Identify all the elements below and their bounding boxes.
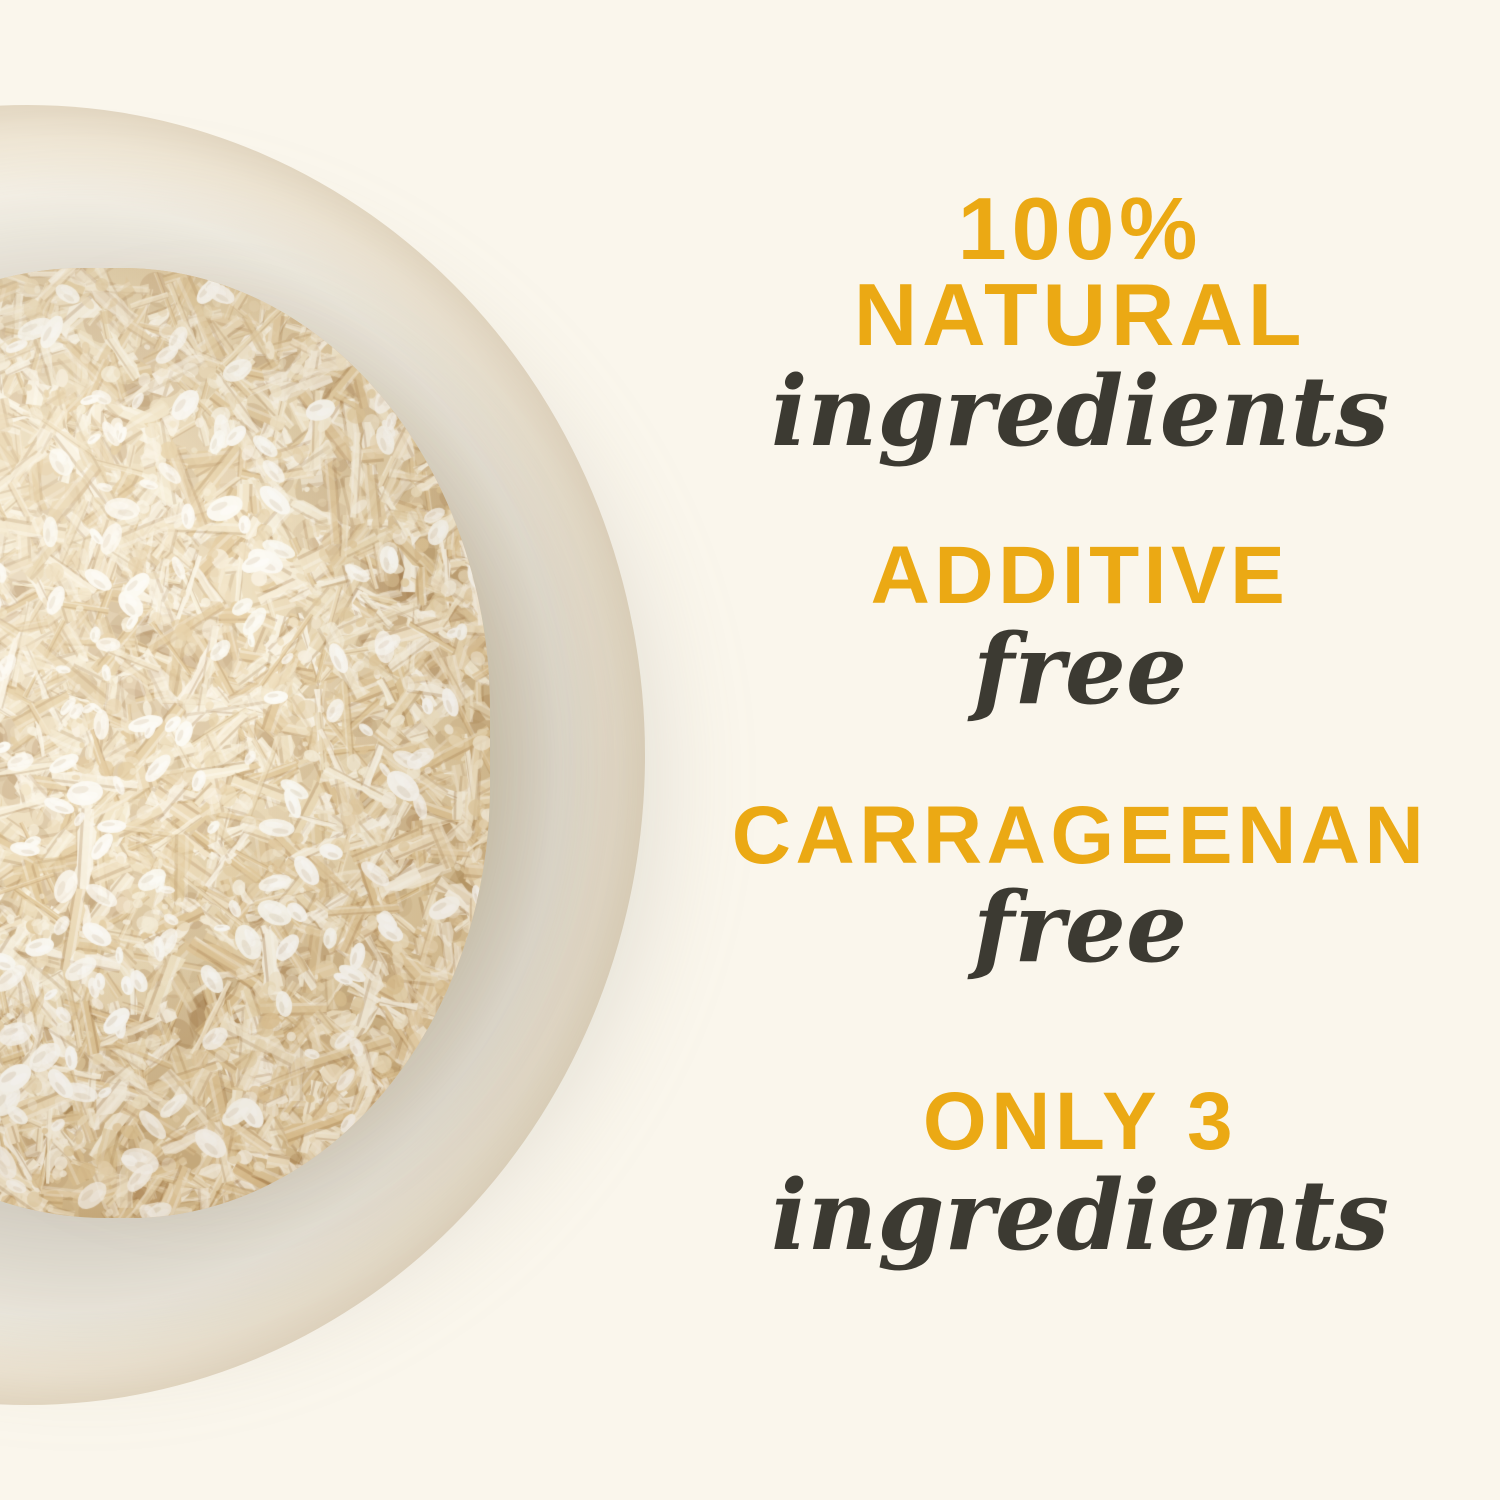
claim-only-3-ingredients: ONLY 3 ingredients [660, 1082, 1500, 1264]
claim-carrageenan-kicker: CARRAGEENAN [660, 796, 1500, 876]
claims-list: 100% NATURAL ingredients ADDITIVE free C… [660, 0, 1500, 1500]
claim-additive-free: ADDITIVE free [660, 536, 1500, 718]
claim-carrageenan-script: free [660, 880, 1500, 976]
claim-natural-ingredients: 100% NATURAL ingredients [660, 186, 1500, 460]
claim-additive-script: free [660, 622, 1500, 718]
claim-additive-kicker: ADDITIVE [660, 536, 1500, 616]
claim-only3-kicker: ONLY 3 [660, 1082, 1500, 1162]
claim-natural-kicker-2: NATURAL [660, 272, 1500, 358]
claim-natural-kicker-1: 100% [660, 186, 1500, 272]
claim-carrageenan-free: CARRAGEENAN free [660, 796, 1500, 976]
claim-only3-script: ingredients [660, 1168, 1500, 1264]
product-photo [0, 0, 760, 1500]
product-feature-graphic: 100% NATURAL ingredients ADDITIVE free C… [0, 0, 1500, 1500]
claim-natural-script: ingredients [660, 364, 1500, 460]
